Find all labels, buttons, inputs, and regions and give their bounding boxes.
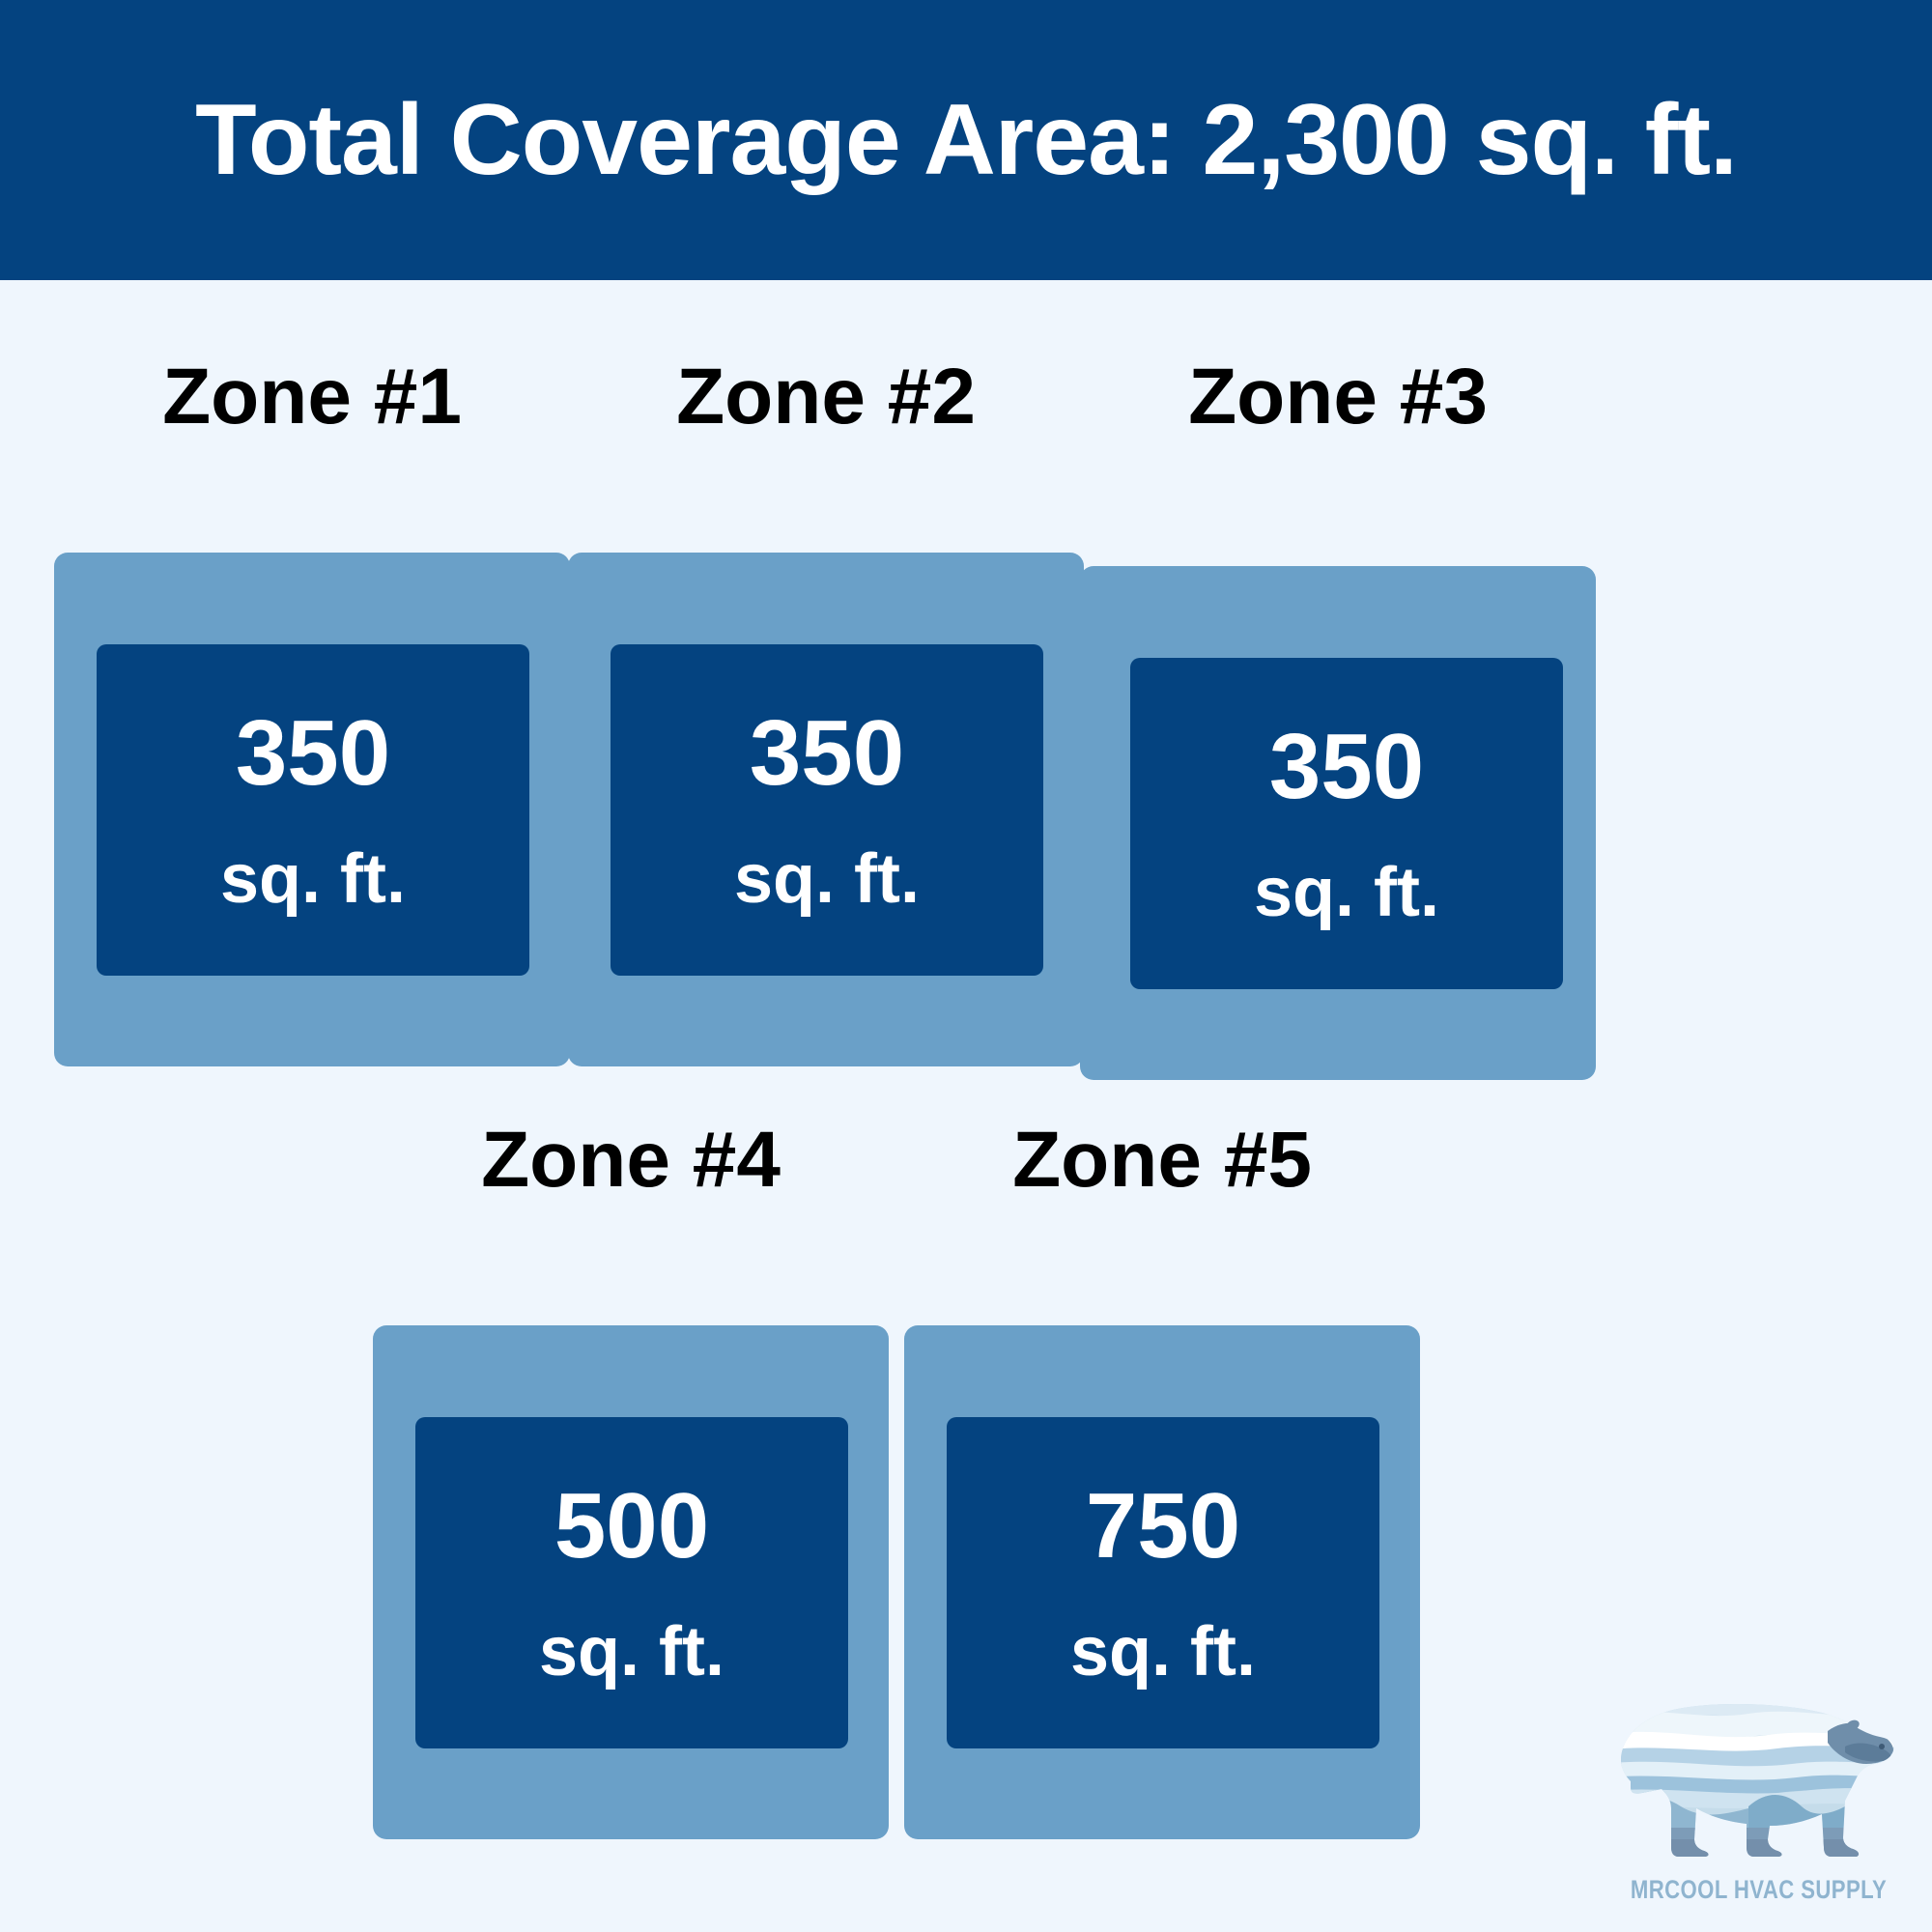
header-bar: Total Coverage Area: 2,300 sq. ft. [0,0,1932,280]
logo-text: MRCOOL HVAC SUPPLY [1631,1875,1876,1905]
zone-outer-box-2: 350 sq. ft. [568,553,1084,1066]
polar-bear-icon [1604,1692,1903,1871]
zone-label-1: Zone #1 [54,357,570,437]
page-title: Total Coverage Area: 2,300 sq. ft. [195,90,1737,190]
zone-unit-3: sq. ft. [1254,858,1439,927]
zone-outer-box-4: 500 sq. ft. [373,1325,889,1839]
zone-label-4: Zone #4 [373,1121,889,1200]
zone-value-2: 350 [750,707,904,800]
zone-card-4: Zone #4 500 sq. ft. [373,1121,889,1839]
zone-unit-1: sq. ft. [220,844,406,914]
zone-label-2: Zone #2 [568,357,1084,437]
zone-value-4: 500 [554,1480,709,1573]
zone-value-5: 750 [1086,1480,1240,1573]
zone-unit-4: sq. ft. [539,1617,724,1687]
zone-label-5: Zone #5 [904,1121,1420,1200]
zone-inner-box-4: 500 sq. ft. [415,1417,848,1748]
zone-label-3: Zone #3 [1080,357,1596,437]
zone-card-2: Zone #2 350 sq. ft. [568,357,1084,1066]
zone-value-1: 350 [236,707,390,800]
zone-card-5: Zone #5 750 sq. ft. [904,1121,1420,1839]
zone-card-1: Zone #1 350 sq. ft. [54,357,570,1066]
zone-unit-2: sq. ft. [734,844,920,914]
zone-outer-box-3: 350 sq. ft. [1080,566,1596,1080]
zone-inner-box-5: 750 sq. ft. [947,1417,1379,1748]
zone-inner-box-3: 350 sq. ft. [1130,658,1563,989]
zone-inner-box-2: 350 sq. ft. [611,644,1043,976]
zone-value-3: 350 [1269,721,1424,813]
zone-unit-5: sq. ft. [1070,1617,1256,1687]
zone-outer-box-5: 750 sq. ft. [904,1325,1420,1839]
zone-card-3: Zone #3 350 sq. ft. [1080,357,1596,1080]
zone-outer-box-1: 350 sq. ft. [54,553,570,1066]
brand-logo: MRCOOL HVAC SUPPLY [1604,1692,1922,1924]
zone-inner-box-1: 350 sq. ft. [97,644,529,976]
